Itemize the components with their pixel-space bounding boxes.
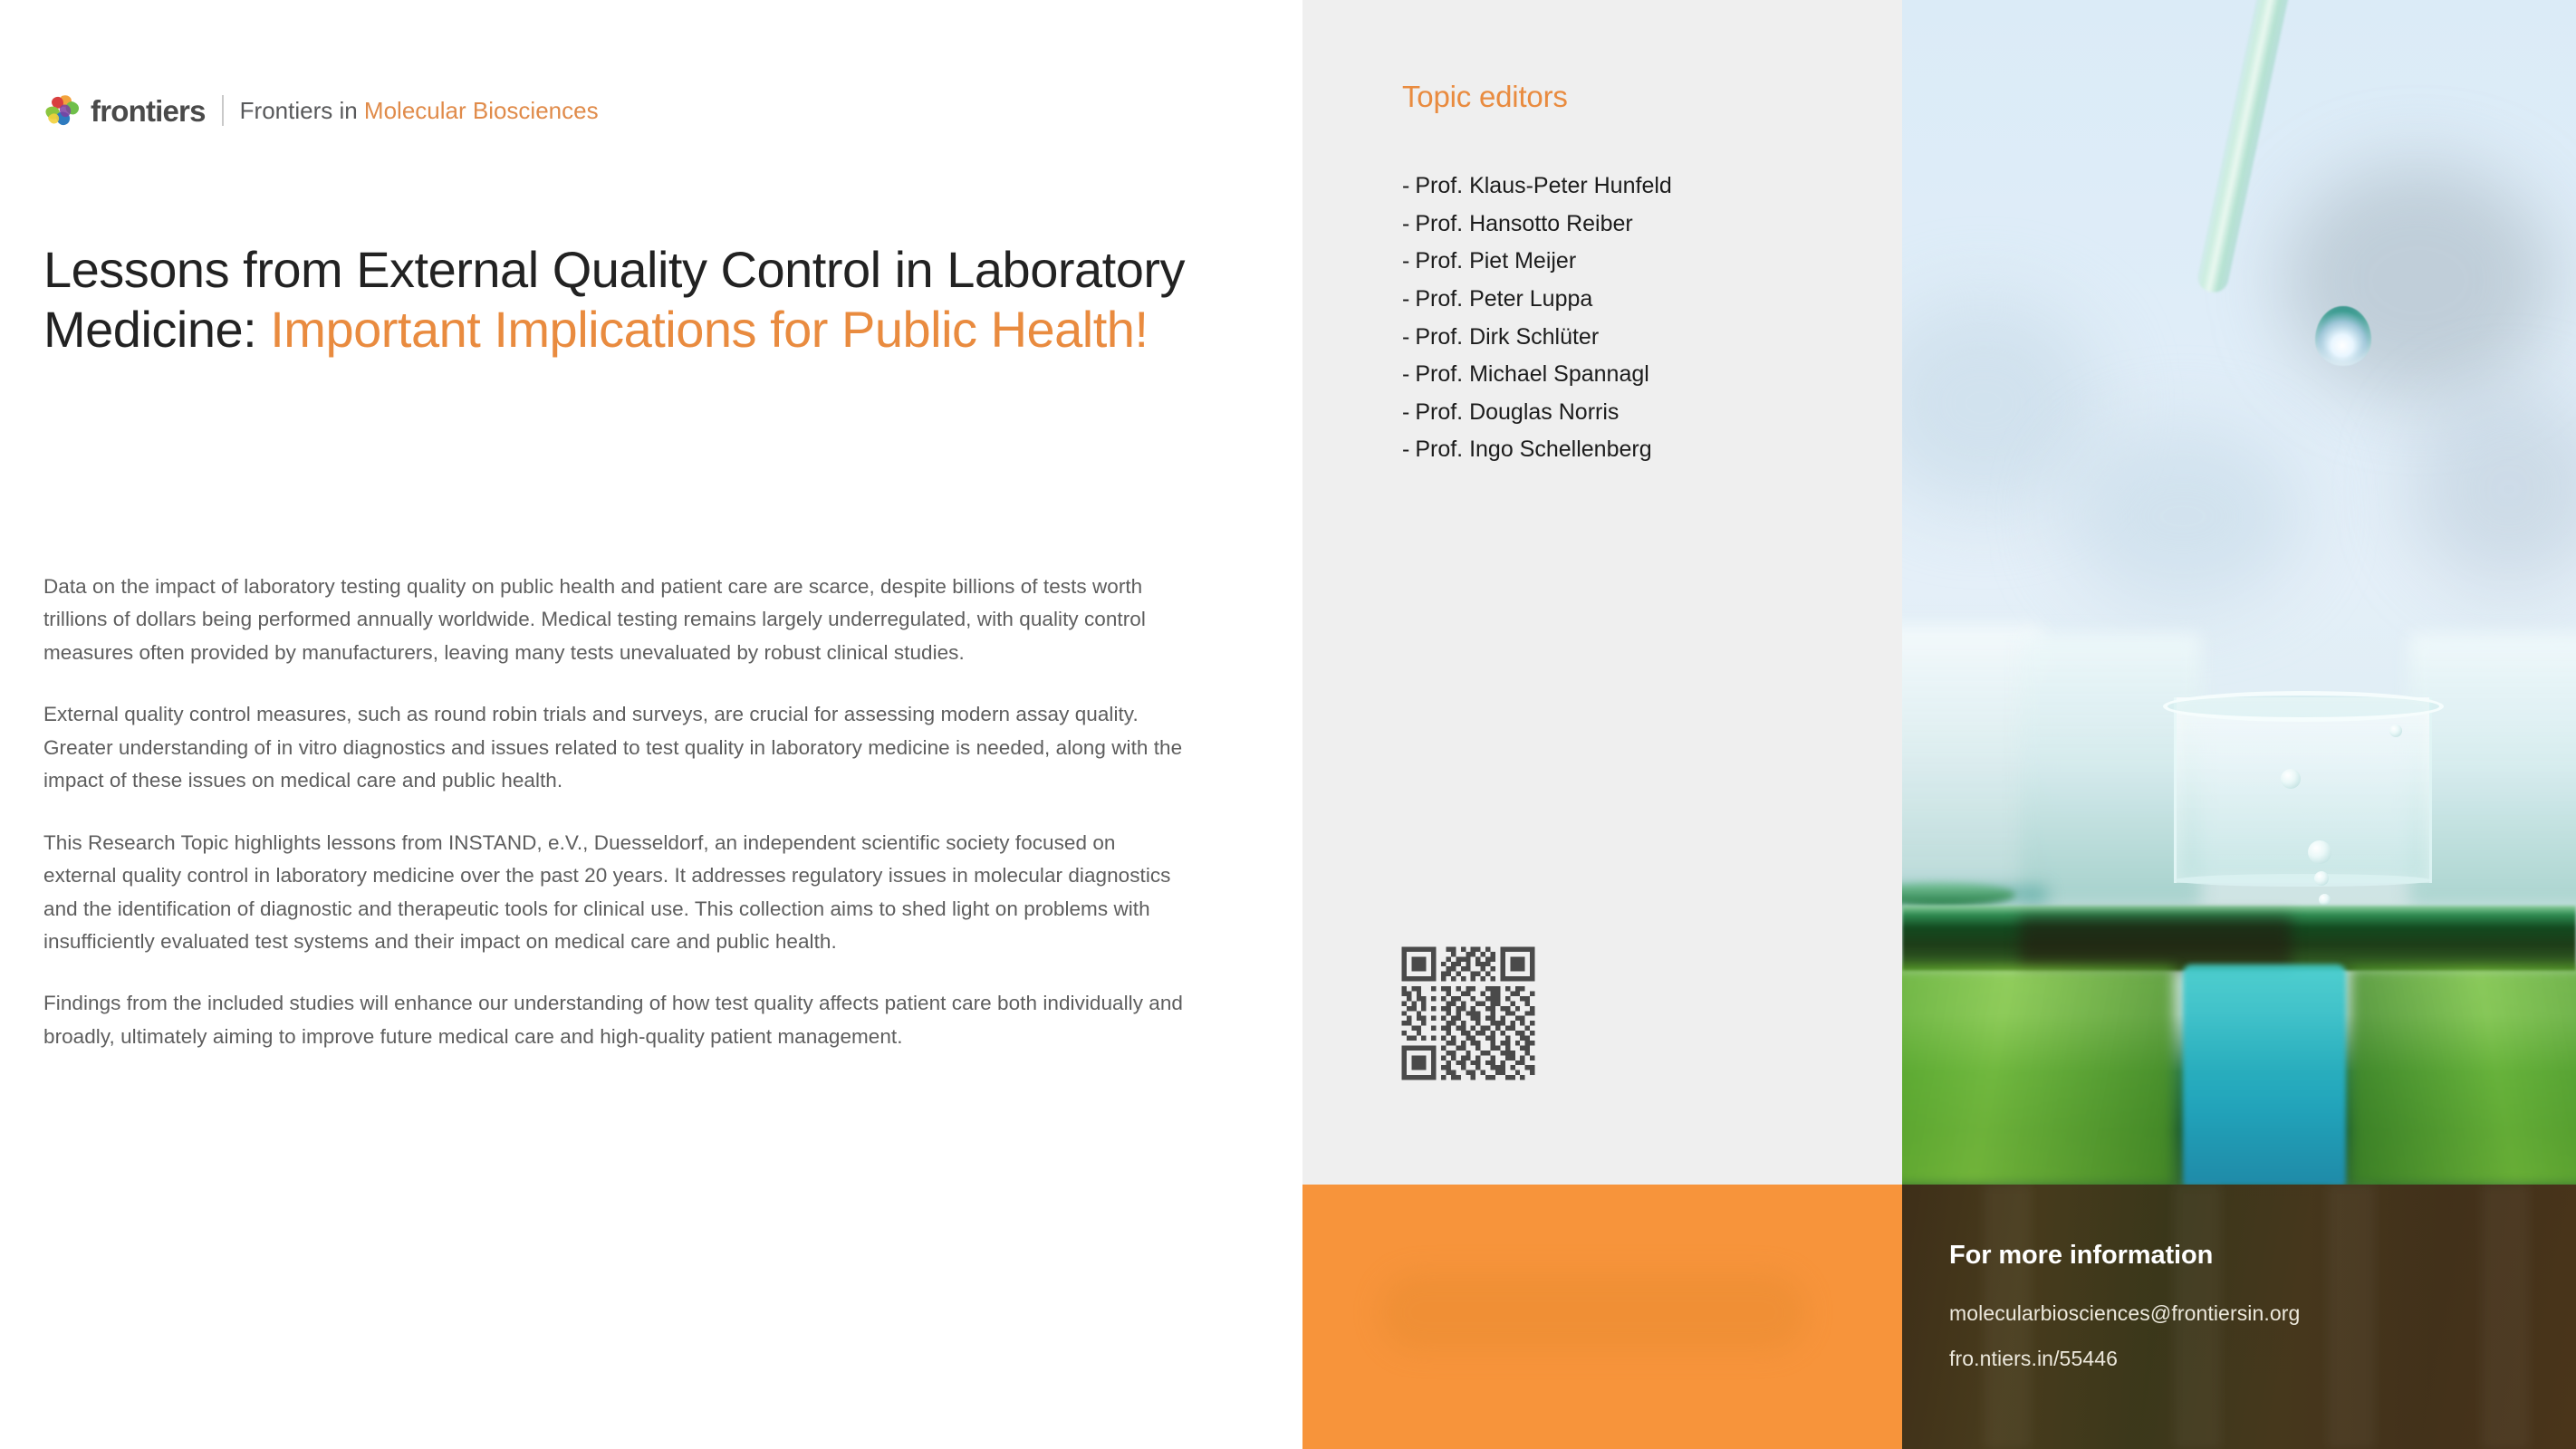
contact-email[interactable]: molecularbiosciences@frontiersin.org: [1949, 1301, 2529, 1327]
editor-name: Prof. Hansotto Reiber: [1415, 211, 1632, 236]
water-droplet-icon: [2315, 306, 2371, 366]
list-item: -Prof. Klaus-Peter Hunfeld: [1402, 168, 1672, 206]
laboratory-photo-column: For more information molecularbioscience…: [1902, 0, 2576, 1449]
research-topic-poster: frontiers Frontiers in Molecular Bioscie…: [0, 0, 2576, 1449]
list-item: -Prof. Michael Spannagl: [1402, 356, 1672, 394]
editor-name: Prof. Douglas Norris: [1415, 399, 1619, 425]
frontiers-wordmark: frontiers: [91, 96, 206, 126]
topic-editors-list: -Prof. Klaus-Peter Hunfeld -Prof. Hansot…: [1402, 168, 1672, 469]
petri-dish: [1902, 883, 2015, 907]
photo-bokeh-blob: [2409, 389, 2576, 589]
brand-divider: [222, 95, 224, 126]
list-bullet: -: [1402, 248, 1409, 273]
orange-accent-band: [1302, 1185, 1902, 1449]
list-item: -Prof. Piet Meijer: [1402, 243, 1672, 281]
pipette-icon: [2196, 0, 2293, 295]
bubble: [2319, 894, 2331, 906]
abstract-paragraph: This Research Topic highlights lessons f…: [43, 827, 1194, 959]
editor-name: Prof. Michael Spannagl: [1415, 361, 1648, 387]
left-content-column: frontiers Frontiers in Molecular Bioscie…: [0, 0, 1302, 1449]
editor-name: Prof. Piet Meijer: [1415, 248, 1576, 273]
list-item: -Prof. Douglas Norris: [1402, 394, 1672, 432]
qr-code-container[interactable]: [1397, 942, 1540, 1085]
list-item: -Prof. Peter Luppa: [1402, 281, 1672, 319]
beaker-rim: [2163, 691, 2444, 722]
contact-info-block: For more information molecularbioscience…: [1949, 1241, 2529, 1371]
bubble: [2389, 724, 2402, 737]
abstract-paragraph: External quality control measures, such …: [43, 698, 1194, 797]
photo-bokeh-blob: [1902, 299, 2101, 507]
editors-column: Topic editors -Prof. Klaus-Peter Hunfeld…: [1302, 0, 1902, 1449]
list-bullet: -: [1402, 286, 1409, 312]
bubble: [2314, 871, 2329, 886]
list-bullet: -: [1402, 399, 1409, 425]
list-bullet: -: [1402, 211, 1409, 236]
photo-bokeh-blob: [2065, 426, 2301, 607]
footer-overlay: For more information molecularbioscience…: [1902, 1185, 2576, 1449]
editor-name: Prof. Klaus-Peter Hunfeld: [1415, 173, 1671, 198]
title-highlight-part: Important Implications for Public Health…: [270, 301, 1148, 358]
list-bullet: -: [1402, 437, 1409, 462]
orange-band-blob: [1380, 1273, 1806, 1351]
abstract-body: Data on the impact of laboratory testing…: [43, 571, 1194, 1053]
list-bullet: -: [1402, 324, 1409, 350]
abstract-paragraph: Findings from the included studies will …: [43, 987, 1194, 1053]
beaker-base: [2174, 874, 2432, 887]
editor-name: Prof. Dirk Schlüter: [1415, 324, 1599, 350]
background-beaker: [2409, 634, 2576, 906]
footer-heading: For more information: [1949, 1241, 2529, 1271]
abstract-paragraph: Data on the impact of laboratory testing…: [43, 571, 1194, 669]
short-url[interactable]: fro.ntiers.in/55446: [1949, 1347, 2529, 1372]
bubble: [2308, 840, 2331, 864]
topic-editors-heading: Topic editors: [1402, 80, 1568, 114]
journal-name: Frontiers in Molecular Biosciences: [240, 99, 599, 122]
page-title: Lessons from External Quality Control in…: [43, 240, 1239, 360]
editor-name: Prof. Peter Luppa: [1415, 286, 1592, 312]
journal-title: Molecular Biosciences: [364, 97, 599, 124]
qr-code-icon[interactable]: [1397, 942, 1540, 1085]
journal-prefix: Frontiers in: [240, 97, 364, 124]
shelf-shadow: [2020, 916, 2292, 969]
brand-header: frontiers Frontiers in Molecular Bioscie…: [43, 91, 599, 130]
list-item: -Prof. Hansotto Reiber: [1402, 206, 1672, 244]
list-bullet: -: [1402, 361, 1409, 387]
frontiers-pinwheel-logo-icon: [43, 92, 83, 129]
list-bullet: -: [1402, 173, 1409, 198]
cyan-liquid-cylinder: [2183, 964, 2346, 1186]
editor-name: Prof. Ingo Schellenberg: [1415, 437, 1651, 462]
background-green-blur: [2350, 967, 2576, 1186]
list-item: -Prof. Dirk Schlüter: [1402, 319, 1672, 357]
bubble: [2281, 769, 2301, 789]
list-item: -Prof. Ingo Schellenberg: [1402, 431, 1672, 469]
photo-bokeh-blob: [2283, 163, 2554, 398]
background-green-blur: [1902, 967, 2174, 1186]
